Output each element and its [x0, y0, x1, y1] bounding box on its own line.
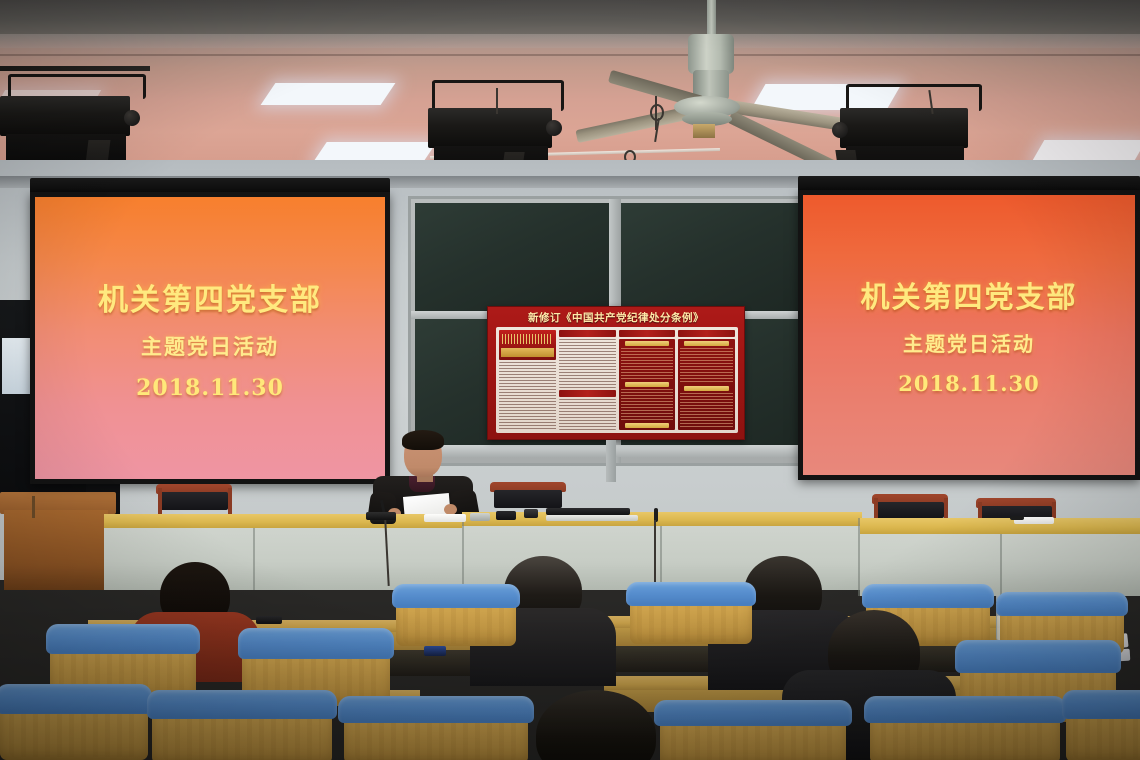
screen-surface-left: 机关第四党支部 主题党日活动 2018.11.30	[35, 197, 385, 479]
fluorescent-panel	[313, 142, 436, 162]
screen-bezel: 机关第四党支部 主题党日活动 2018.11.30	[798, 190, 1140, 480]
poster-column-header	[559, 330, 616, 337]
head-table-chair-back	[876, 502, 944, 518]
poster-dark-block	[678, 339, 735, 430]
poster-column-header	[678, 330, 735, 337]
poster-column	[678, 330, 735, 430]
desk-item-small	[470, 513, 490, 521]
poster-text-block	[559, 399, 616, 430]
wall-poster: 新修订《中国共产党纪律处分条例》	[487, 306, 745, 440]
poster-text-block	[499, 362, 556, 430]
poster-lines	[680, 393, 733, 429]
fan-motor-upper	[688, 34, 734, 74]
light-rail	[0, 66, 150, 71]
chair-post	[228, 488, 232, 514]
slide-subtitle-left: 主题党日活动	[141, 331, 279, 361]
audience-chair	[660, 704, 846, 760]
ceiling-seam	[0, 54, 1140, 56]
audience-chair	[344, 700, 528, 760]
desk-item-small	[524, 509, 538, 518]
desk-phone	[256, 616, 282, 624]
poster-text-block	[559, 339, 616, 388]
desk-microphone	[366, 512, 396, 520]
poster-column	[559, 330, 616, 430]
poster-column-header	[559, 390, 616, 397]
head-table-front	[104, 528, 464, 590]
audience-chair	[396, 588, 516, 646]
conference-room-photo: 新修订《中国共产党纪律处分条例》	[0, 0, 1140, 760]
poster-chip	[625, 382, 670, 387]
ceiling-beam	[0, 0, 1140, 34]
head-table-top	[860, 518, 1140, 534]
screen-surface-right: 机关第四党支部 主题党日活动 2018.11.30	[803, 195, 1135, 475]
fan-tag	[693, 124, 715, 138]
poster-column-header	[619, 330, 676, 337]
blackboard-chalk-tray	[411, 445, 825, 457]
blackboard-panel	[619, 203, 819, 311]
poster-chip	[684, 386, 729, 391]
desk-seam	[858, 518, 860, 596]
audience-chair	[630, 586, 752, 644]
desk-item-small	[424, 646, 446, 656]
slide-title-left: 机关第四党支部	[98, 275, 322, 319]
poster-lines	[621, 389, 674, 421]
audience-chair	[152, 694, 332, 760]
audience-chair	[1066, 694, 1140, 760]
cable	[654, 520, 656, 590]
desk-seam	[253, 528, 255, 590]
fan-downrod	[707, 0, 716, 36]
chair-post	[158, 488, 162, 514]
slide-date-right: 2018.11.30	[898, 371, 1040, 396]
poster-chip	[684, 341, 729, 346]
poster-illustration	[499, 330, 556, 360]
desk-tray-base	[546, 515, 638, 521]
poster-support-post	[606, 440, 616, 482]
poster-column	[499, 330, 556, 430]
lectern-body	[4, 510, 108, 590]
slide-subtitle-right: 主题党日活动	[903, 328, 1035, 357]
poster-lines	[680, 348, 733, 384]
desk-seam	[462, 514, 464, 590]
desk-seam	[660, 526, 662, 590]
screen-bezel: 机关第四党支部 主题党日活动 2018.11.30	[30, 192, 390, 484]
desk-pen	[1010, 516, 1024, 520]
poster-title: 新修订《中国共产党纪律处分条例》	[488, 310, 744, 325]
slide-date-left: 2018.11.30	[136, 375, 284, 401]
poster-chip	[625, 423, 670, 428]
desk-papers	[424, 514, 466, 522]
ceiling-beam-secondary	[0, 34, 1140, 48]
poster-chip	[625, 341, 670, 346]
presenter-hair	[402, 430, 444, 450]
poster-dark-block	[619, 339, 676, 430]
head-table-chair-back	[160, 492, 228, 510]
blackboard-panel	[415, 203, 613, 311]
head-table-top	[104, 514, 464, 528]
lectern-edge	[32, 496, 35, 518]
fluorescent-panel	[1032, 140, 1140, 162]
head-table-chair-back	[494, 490, 562, 508]
desk-remote	[496, 511, 516, 520]
desk-tray	[546, 508, 630, 515]
head-table-top	[462, 512, 862, 526]
audience-chair	[0, 688, 148, 760]
audience-chair	[870, 700, 1060, 760]
poster-body	[496, 327, 738, 433]
desk-seam	[1000, 534, 1002, 596]
poster-lines	[621, 348, 674, 380]
fluorescent-panel	[261, 83, 396, 105]
slide-title-right: 机关第四党支部	[860, 274, 1077, 316]
poster-column	[619, 330, 676, 430]
